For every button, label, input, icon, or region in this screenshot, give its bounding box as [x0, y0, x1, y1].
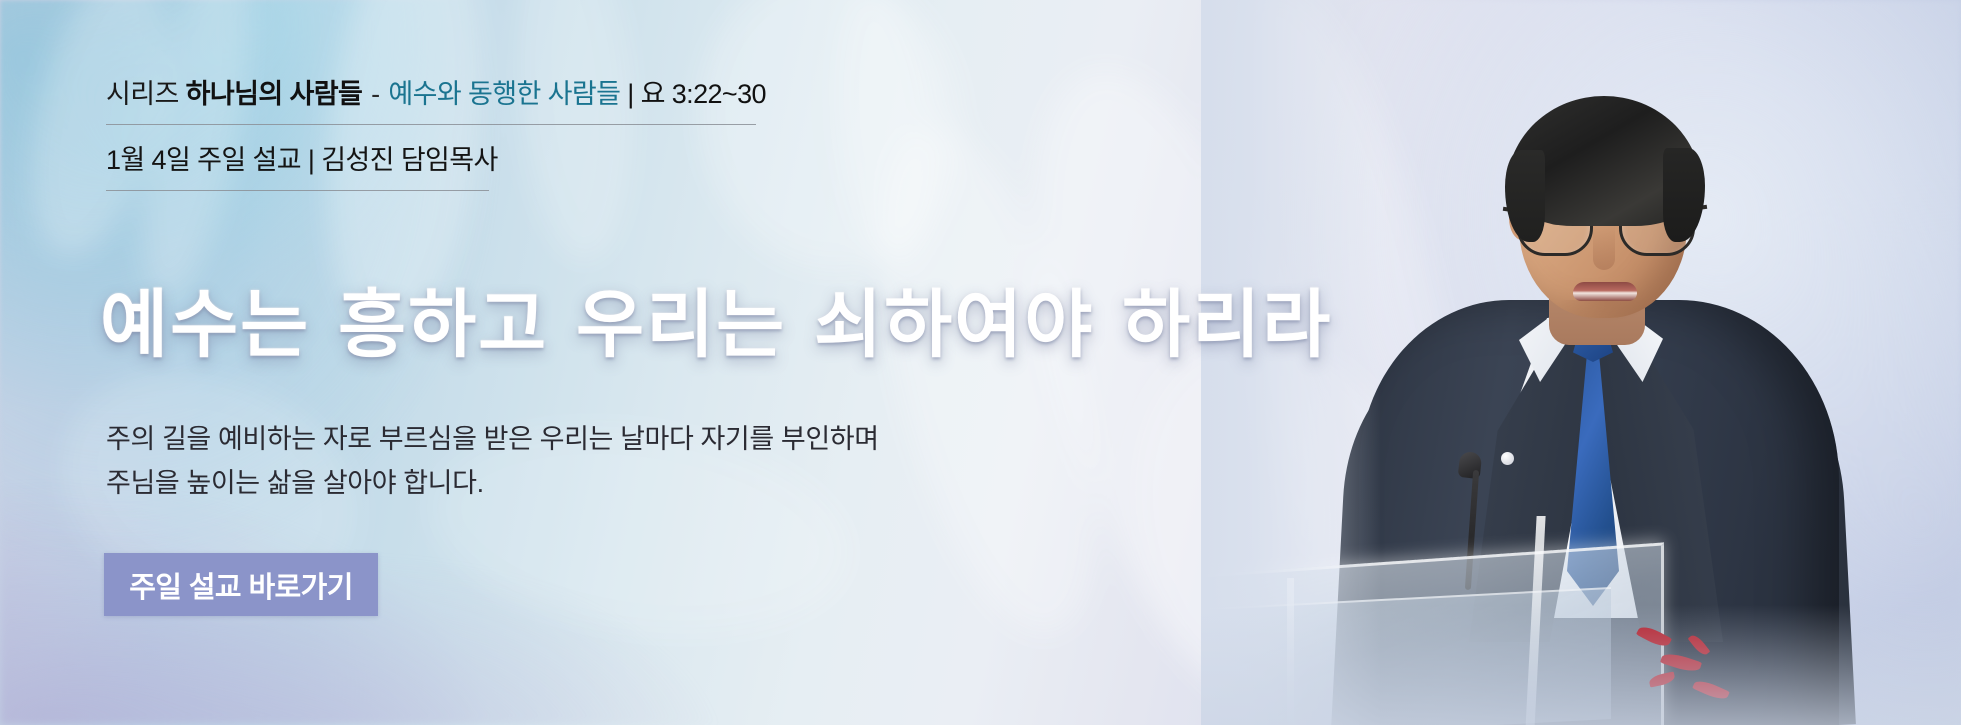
sermon-meta: 시리즈 하나님의 사람들 - 예수와 동행한 사람들 | 요 3:22~30 1… [106, 78, 1006, 191]
lapel-pin [1501, 452, 1514, 465]
series-title: 하나님의 사람들 [186, 79, 363, 109]
description-line-1: 주의 길을 예비하는 자로 부르심을 받은 우리는 날마다 자기를 부인하며 [106, 418, 879, 462]
series-line: 시리즈 하나님의 사람들 - 예수와 동행한 사람들 | 요 3:22~30 [106, 78, 1006, 112]
series-kicker: 시리즈 [106, 79, 186, 109]
mouth [1573, 282, 1637, 301]
series-separator: | [620, 79, 640, 109]
hair-side-right [1663, 148, 1705, 242]
sermon-description: 주의 길을 예비하는 자로 부르심을 받은 우리는 날마다 자기를 부인하며 주… [106, 418, 879, 505]
divider-top [106, 124, 756, 125]
banner-content: 시리즈 하나님의 사람들 - 예수와 동행한 사람들 | 요 3:22~30 1… [0, 0, 1200, 725]
sermon-headline: 예수는 흥하고 우리는 쇠하여야 하리라 [100, 288, 1332, 362]
scripture-reference: 요 3:22~30 [641, 79, 766, 109]
series-dash: - [362, 79, 388, 109]
sermon-banner: 시리즈 하나님의 사람들 - 예수와 동행한 사람들 | 요 3:22~30 1… [0, 0, 1961, 725]
description-line-2: 주님을 높이는 삶을 살아야 합니다. [106, 462, 879, 506]
date-speaker-line: 1월 4일 주일 설교 | 김성진 담임목사 [106, 138, 1006, 177]
photo-bottom-fade [1201, 605, 1961, 725]
sunday-sermon-link-label: 주일 설교 바로가기 [129, 564, 353, 606]
sunday-sermon-link-button[interactable]: 주일 설교 바로가기 [104, 553, 378, 616]
series-subtitle: 예수와 동행한 사람들 [388, 79, 620, 109]
divider-bottom [106, 190, 489, 191]
chin-shadow [1557, 300, 1653, 322]
